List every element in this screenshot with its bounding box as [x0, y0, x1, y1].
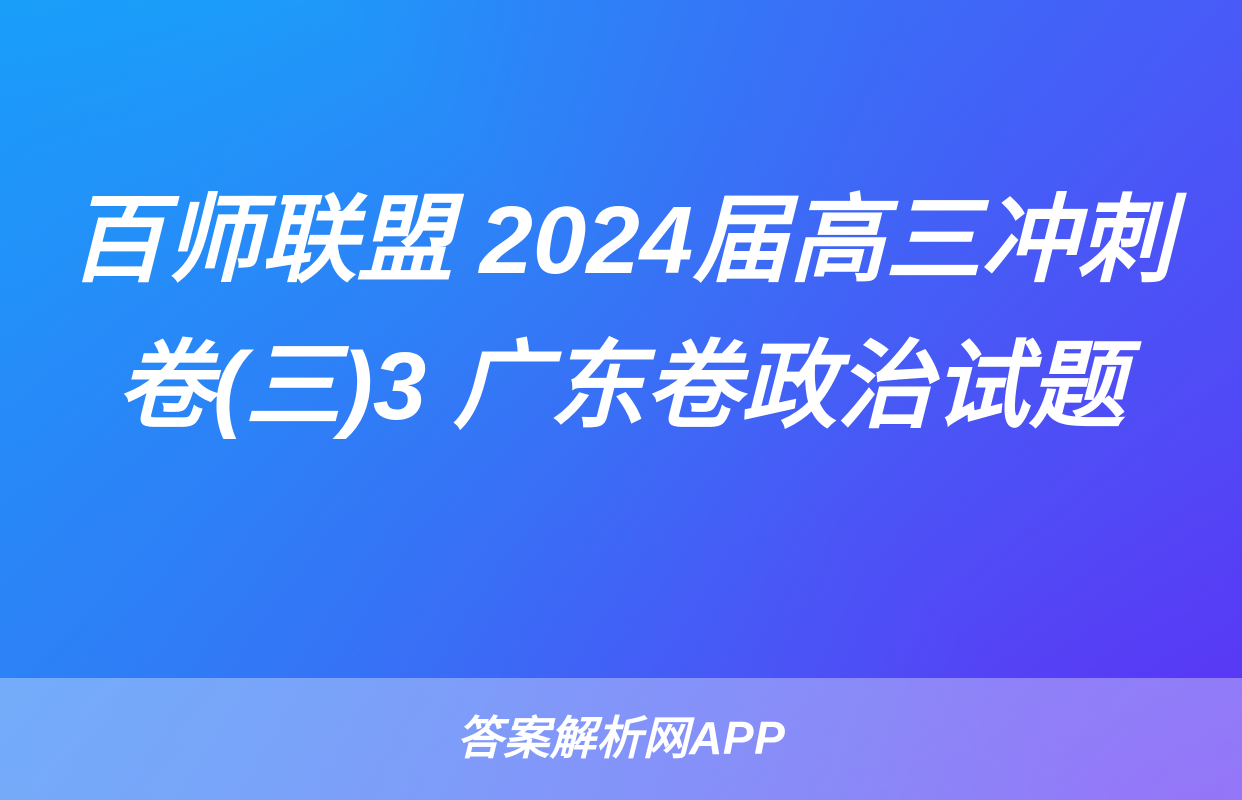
watermark-label: 答案解析网APP — [457, 715, 786, 763]
page-title: 百师联盟 2024届高三冲刺卷(三)3 广东卷政治试题 — [60, 168, 1182, 460]
title-block: 百师联盟 2024届高三冲刺卷(三)3 广东卷政治试题 — [0, 168, 1242, 460]
share-card: 百师联盟 2024届高三冲刺卷(三)3 广东卷政治试题 答案解析网APP — [0, 0, 1242, 800]
watermark-band: 答案解析网APP — [0, 678, 1242, 800]
